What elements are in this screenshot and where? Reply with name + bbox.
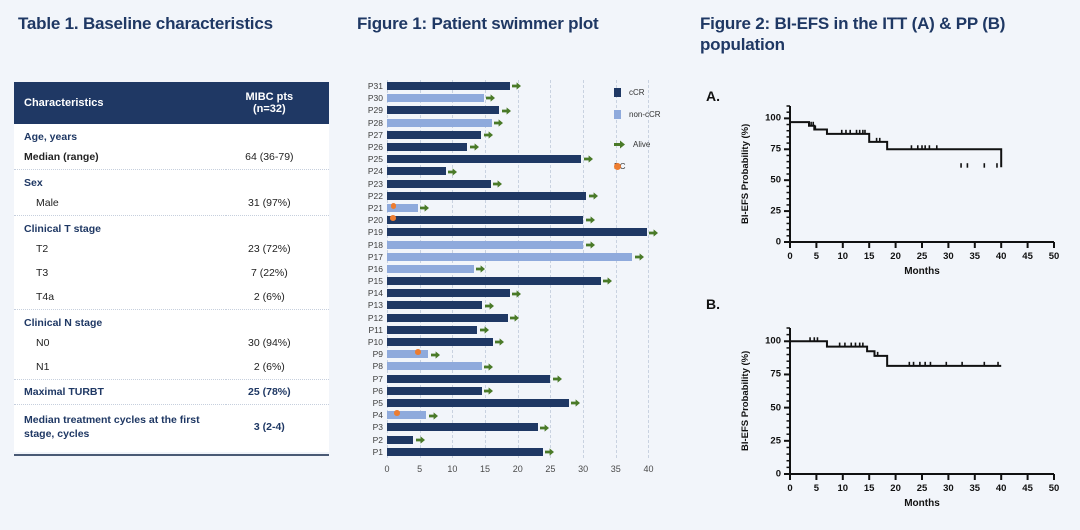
swimmer-row: P8 <box>387 360 655 372</box>
table-cell-value <box>226 216 329 238</box>
swimmer-bar <box>387 326 477 334</box>
legend-label: non-cCR <box>629 110 661 119</box>
table-cell-value <box>226 124 329 145</box>
swimmer-alive-arrow-icon <box>512 82 521 90</box>
swimmer-patient-label: P5 <box>353 397 383 409</box>
km-x-tick-label: 45 <box>1022 251 1033 262</box>
swimmer-row: P6 <box>387 385 655 397</box>
swimmer-bar <box>387 314 508 322</box>
table-header-characteristics: Characteristics <box>14 82 226 124</box>
swimmer-alive-arrow-icon <box>416 436 425 444</box>
swimmer-patient-label: P12 <box>353 312 383 324</box>
swimmer-rc-marker <box>415 349 421 355</box>
swimmer-bar <box>387 180 491 188</box>
swimmer-patient-label: P13 <box>353 299 383 311</box>
swimmer-patient-label: P28 <box>353 117 383 129</box>
km-x-tick-label: 50 <box>1049 251 1060 262</box>
swimmer-row: P14 <box>387 287 655 299</box>
swimmer-patient-label: P23 <box>353 178 383 190</box>
swimmer-bar <box>387 253 632 261</box>
swimmer-x-tick: 20 <box>513 464 523 474</box>
table-cell-label: Maximal TURBT <box>14 380 226 405</box>
swimmer-patient-label: P25 <box>353 153 383 165</box>
km-svg <box>748 96 1068 286</box>
swimmer-row: P2 <box>387 434 655 446</box>
swimmer-alive-arrow-icon <box>494 119 503 127</box>
swimmer-patient-label: P3 <box>353 421 383 433</box>
swimmer-x-tick: 15 <box>480 464 490 474</box>
swimmer-plot-panel: Figure 1: Patient swimmer plot P31P30P29… <box>345 0 690 530</box>
km-x-axis-title: Months <box>790 266 1054 277</box>
swimmer-row: P18 <box>387 239 655 251</box>
swimmer-patient-label: P4 <box>353 409 383 421</box>
km-x-tick-label: 20 <box>890 251 901 262</box>
swimmer-bar <box>387 387 482 395</box>
swimmer-bar <box>387 228 647 236</box>
table-row: T37 (22%) <box>14 261 329 285</box>
alive-arrow-icon <box>614 140 625 149</box>
legend-item: cCR <box>614 88 645 97</box>
swimmer-alive-arrow-icon <box>493 180 502 188</box>
table-header-row: Characteristics MIBC pts (n=32) <box>14 82 329 124</box>
table-cell-label: Age, years <box>14 124 226 145</box>
swimmer-patient-label: P8 <box>353 360 383 372</box>
km-y-tick-label: 75 <box>748 144 781 155</box>
swimmer-bar <box>387 338 493 346</box>
swimmer-bar <box>387 106 499 114</box>
swimmer-patient-label: P14 <box>353 287 383 299</box>
swimmer-x-tick: 35 <box>611 464 621 474</box>
table-cell-label: Clinical T stage <box>14 216 226 238</box>
swimmer-alive-arrow-icon <box>649 229 658 237</box>
table-row: Clinical T stage <box>14 216 329 238</box>
swimmer-row: P1 <box>387 446 655 458</box>
swimmer-row: P22 <box>387 190 655 202</box>
swimmer-alive-arrow-icon <box>571 399 580 407</box>
table-row: N030 (94%) <box>14 331 329 355</box>
swimmer-plot-area: P31P30P29P28P27P26P25P24P23P22P21P20P19P… <box>387 80 655 458</box>
km-x-tick-label: 40 <box>996 251 1007 262</box>
swimmer-row: P5 <box>387 397 655 409</box>
table-cell-value: 30 (94%) <box>226 331 329 355</box>
table-cell-label: N1 <box>14 355 226 380</box>
swimmer-patient-label: P15 <box>353 275 383 287</box>
swimmer-row: P3 <box>387 421 655 433</box>
panel-a-letter: A. <box>706 88 720 104</box>
table-cell-value <box>226 170 329 192</box>
swimmer-row: P15 <box>387 275 655 287</box>
table-row: Clinical N stage <box>14 310 329 332</box>
swimmer-alive-arrow-icon <box>429 412 438 420</box>
swimmer-bar <box>387 448 543 456</box>
swimmer-row: P4 <box>387 409 655 421</box>
table-row: T223 (72%) <box>14 237 329 261</box>
km-x-tick-label: 0 <box>787 483 792 494</box>
km-y-tick-label: 100 <box>748 113 781 124</box>
km-x-axis-title: Months <box>790 498 1054 509</box>
swimmer-x-tick: 30 <box>578 464 588 474</box>
table-cell-label: Clinical N stage <box>14 310 226 332</box>
swimmer-row: P11 <box>387 324 655 336</box>
swimmer-alive-arrow-icon <box>484 363 493 371</box>
legend-item: Alive <box>614 140 650 149</box>
swimmer-patient-label: P17 <box>353 251 383 263</box>
swimmer-bar <box>387 119 492 127</box>
swimmer-bar <box>387 216 583 224</box>
swimmer-patient-label: P7 <box>353 373 383 385</box>
swimmer-patient-label: P30 <box>353 92 383 104</box>
swimmer-alive-arrow-icon <box>545 448 554 456</box>
km-x-tick-label: 30 <box>943 251 954 262</box>
swimmer-alive-arrow-icon <box>510 314 519 322</box>
table-cell-label: T4a <box>14 285 226 310</box>
km-x-tick-label: 5 <box>814 251 819 262</box>
table-cell-value <box>226 310 329 332</box>
swimmer-row: P17 <box>387 251 655 263</box>
swimmer-alive-arrow-icon <box>589 192 598 200</box>
table-row: Median treatment cycles at the first sta… <box>14 405 329 452</box>
table-row: Age, years <box>14 124 329 145</box>
swimmer-bar <box>387 265 474 273</box>
swimmer-row: P12 <box>387 312 655 324</box>
swimmer-bar <box>387 301 482 309</box>
km-x-tick-label: 20 <box>890 483 901 494</box>
table-row: T4a2 (6%) <box>14 285 329 310</box>
km-x-tick-label: 40 <box>996 483 1007 494</box>
table-row: Sex <box>14 170 329 192</box>
swimmer-alive-arrow-icon <box>484 387 493 395</box>
swimmer-patient-label: P26 <box>353 141 383 153</box>
swimmer-x-tick: 0 <box>384 464 389 474</box>
km-x-tick-label: 30 <box>943 483 954 494</box>
swimmer-alive-arrow-icon <box>502 107 511 115</box>
swimmer-alive-arrow-icon <box>476 265 485 273</box>
table-body: Age, yearsMedian (range)64 (36-79)SexMal… <box>14 124 329 452</box>
km-panel-title: Figure 2: BI-EFS in the ITT (A) & PP (B)… <box>700 14 1080 55</box>
swimmer-row: P9 <box>387 348 655 360</box>
swimmer-x-tick: 40 <box>643 464 653 474</box>
swimmer-alive-arrow-icon <box>584 155 593 163</box>
swimmer-plot-figure: P31P30P29P28P27P26P25P24P23P22P21P20P19P… <box>351 72 690 492</box>
table-row: Male31 (97%) <box>14 191 329 216</box>
swimmer-bar <box>387 411 426 419</box>
swimmer-row: P7 <box>387 373 655 385</box>
km-y-tick-label: 75 <box>748 369 781 380</box>
swimmer-rc-marker <box>390 215 396 221</box>
baseline-characteristics-panel: Table 1. Baseline characteristics Charac… <box>0 0 345 530</box>
swimmer-x-tick: 25 <box>545 464 555 474</box>
non-ccr-swatch-icon <box>614 110 621 119</box>
swimmer-rc-marker <box>391 203 397 209</box>
km-x-tick-label: 45 <box>1022 483 1033 494</box>
km-x-tick-label: 25 <box>917 483 928 494</box>
swimmer-alive-arrow-icon <box>480 326 489 334</box>
km-y-axis-title: BI-EFS Probability (%) <box>740 328 751 474</box>
table-panel-title: Table 1. Baseline characteristics <box>18 14 338 35</box>
swimmer-alive-arrow-icon <box>586 241 595 249</box>
table-cell-value: 3 (2-4) <box>226 405 329 452</box>
swimmer-patient-label: P9 <box>353 348 383 360</box>
table-cell-label: Sex <box>14 170 226 192</box>
swimmer-alive-arrow-icon <box>485 302 494 310</box>
swimmer-patient-label: P18 <box>353 239 383 251</box>
km-x-tick-label: 10 <box>838 251 849 262</box>
swimmer-patient-label: P2 <box>353 434 383 446</box>
ccr-swatch-icon <box>614 88 621 97</box>
swimmer-patient-label: P16 <box>353 263 383 275</box>
swimmer-bar <box>387 289 510 297</box>
table-header-value: MIBC pts (n=32) <box>226 82 329 124</box>
table-cell-value: 7 (22%) <box>226 261 329 285</box>
swimmer-bar <box>387 362 482 370</box>
swimmer-patient-label: P6 <box>353 385 383 397</box>
swimmer-panel-title: Figure 1: Patient swimmer plot <box>357 14 687 35</box>
swimmer-patient-label: P29 <box>353 104 383 116</box>
swimmer-row: P16 <box>387 263 655 275</box>
km-x-tick-label: 50 <box>1049 483 1060 494</box>
km-x-tick-label: 5 <box>814 483 819 494</box>
swimmer-bar <box>387 399 569 407</box>
table-cell-value: 23 (72%) <box>226 237 329 261</box>
km-chart-itt: 025507510005101520253035404550BI-EFS Pro… <box>748 96 1068 286</box>
table-cell-value: 2 (6%) <box>226 355 329 380</box>
table-cell-label: Male <box>14 191 226 216</box>
swimmer-patient-label: P27 <box>353 129 383 141</box>
swimmer-patient-label: P24 <box>353 165 383 177</box>
table-cell-value: 31 (97%) <box>226 191 329 216</box>
swimmer-alive-arrow-icon <box>420 204 429 212</box>
swimmer-bar <box>387 350 428 358</box>
swimmer-row: P10 <box>387 336 655 348</box>
table-cell-value: 2 (6%) <box>226 285 329 310</box>
km-x-tick-label: 10 <box>838 483 849 494</box>
swimmer-alive-arrow-icon <box>486 94 495 102</box>
table-cell-label: T3 <box>14 261 226 285</box>
legend-item: non-cCR <box>614 110 661 119</box>
swimmer-x-tick: 5 <box>417 464 422 474</box>
km-curves-panel: Figure 2: BI-EFS in the ITT (A) & PP (B)… <box>690 0 1080 530</box>
swimmer-row: P20 <box>387 214 655 226</box>
legend-label: Alive <box>633 140 650 149</box>
swimmer-patient-label: P31 <box>353 80 383 92</box>
table-cell-label: Median (range) <box>14 145 226 170</box>
swimmer-bar <box>387 131 481 139</box>
km-x-tick-label: 15 <box>864 251 875 262</box>
swimmer-bar <box>387 436 413 444</box>
km-y-tick-label: 50 <box>748 175 781 186</box>
km-y-tick-label: 50 <box>748 402 781 413</box>
swimmer-rc-marker <box>394 410 400 416</box>
swimmer-patient-label: P19 <box>353 226 383 238</box>
legend-item: RC <box>614 162 626 171</box>
table-cell-value: 64 (36-79) <box>226 145 329 170</box>
table-row: Median (range)64 (36-79) <box>14 145 329 170</box>
km-x-tick-label: 35 <box>970 251 981 262</box>
table-row: Maximal TURBT25 (78%) <box>14 380 329 405</box>
legend-label: cCR <box>629 88 645 97</box>
swimmer-alive-arrow-icon <box>431 351 440 359</box>
km-y-axis-title: BI-EFS Probability (%) <box>740 106 751 242</box>
swimmer-patient-label: P20 <box>353 214 383 226</box>
km-y-tick-label: 25 <box>748 435 781 446</box>
swimmer-bar <box>387 155 581 163</box>
km-y-tick-label: 100 <box>748 336 781 347</box>
km-chart-pp: 025507510005101520253035404550BI-EFS Pro… <box>748 318 1068 518</box>
swimmer-alive-arrow-icon <box>495 338 504 346</box>
swimmer-alive-arrow-icon <box>512 290 521 298</box>
swimmer-bar <box>387 82 510 90</box>
km-x-tick-label: 35 <box>970 483 981 494</box>
swimmer-alive-arrow-icon <box>540 424 549 432</box>
swimmer-alive-arrow-icon <box>603 277 612 285</box>
swimmer-bar <box>387 241 583 249</box>
table-cell-label: N0 <box>14 331 226 355</box>
swimmer-alive-arrow-icon <box>635 253 644 261</box>
swimmer-x-axis: 0510152025303540 <box>387 464 655 480</box>
km-x-tick-label: 0 <box>787 251 792 262</box>
swimmer-bar <box>387 167 446 175</box>
km-svg <box>748 318 1068 518</box>
table-cell-value: 25 (78%) <box>226 380 329 405</box>
km-y-tick-label: 25 <box>748 206 781 217</box>
km-x-tick-label: 15 <box>864 483 875 494</box>
swimmer-bar <box>387 277 601 285</box>
swimmer-bar <box>387 192 586 200</box>
table-cell-label: T2 <box>14 237 226 261</box>
swimmer-bar <box>387 94 484 102</box>
swimmer-row: P19 <box>387 226 655 238</box>
km-x-tick-label: 25 <box>917 251 928 262</box>
panel-b-letter: B. <box>706 296 720 312</box>
swimmer-patient-label: P1 <box>353 446 383 458</box>
swimmer-x-tick: 10 <box>447 464 457 474</box>
swimmer-alive-arrow-icon <box>484 131 493 139</box>
swimmer-patient-label: P22 <box>353 190 383 202</box>
swimmer-patient-label: P10 <box>353 336 383 348</box>
table-row: N12 (6%) <box>14 355 329 380</box>
swimmer-bar <box>387 143 467 151</box>
swimmer-row: P21 <box>387 202 655 214</box>
table-cell-label: Median treatment cycles at the first sta… <box>14 405 226 452</box>
swimmer-alive-arrow-icon <box>448 168 457 176</box>
swimmer-bar <box>387 375 550 383</box>
swimmer-patient-label: P21 <box>353 202 383 214</box>
swimmer-alive-arrow-icon <box>586 216 595 224</box>
baseline-characteristics-table: Characteristics MIBC pts (n=32) Age, yea… <box>14 82 329 452</box>
table-bottom-rule <box>14 454 329 456</box>
km-y-tick-label: 0 <box>748 469 781 480</box>
swimmer-bar <box>387 423 538 431</box>
swimmer-alive-arrow-icon <box>470 143 479 151</box>
km-y-tick-label: 0 <box>748 237 781 248</box>
swimmer-row: P23 <box>387 178 655 190</box>
swimmer-patient-label: P11 <box>353 324 383 336</box>
swimmer-alive-arrow-icon <box>553 375 562 383</box>
swimmer-row: P13 <box>387 299 655 311</box>
